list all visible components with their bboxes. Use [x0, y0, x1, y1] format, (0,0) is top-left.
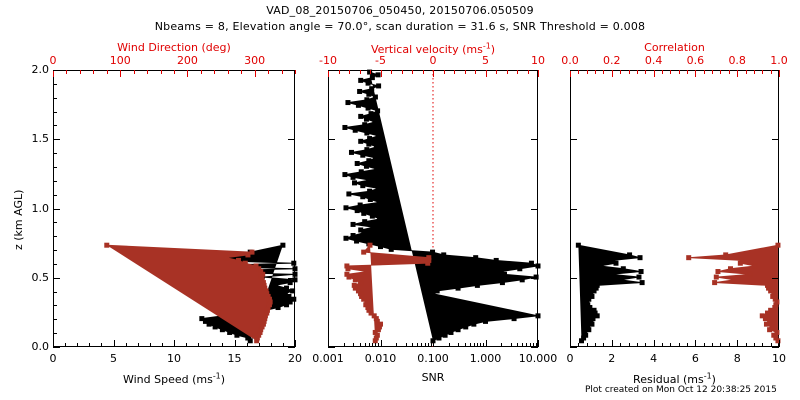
data-point-wind-speed — [293, 272, 297, 276]
data-point-snr — [355, 161, 359, 165]
panel-left-top-axis-title: Wind Direction (deg) — [53, 41, 295, 54]
panel-residual-correlation — [570, 70, 779, 347]
data-point-snr — [375, 167, 379, 171]
top-minor-tick — [687, 70, 688, 74]
data-point-wind-direction — [237, 258, 241, 262]
data-point-wind-direction — [243, 261, 247, 265]
top-minor-tick — [214, 70, 215, 74]
y-major-tick-right — [531, 70, 538, 71]
bottom-tick-label: 10 — [761, 352, 797, 365]
data-point-vertical-velocity — [352, 283, 356, 287]
bottom-minor-tick — [620, 343, 621, 347]
bottom-tick-label: 0 — [35, 352, 71, 365]
y-major-tick — [53, 278, 60, 279]
data-point-snr — [437, 336, 441, 340]
top-minor-tick — [339, 70, 340, 74]
bottom-minor-tick — [662, 343, 663, 347]
top-minor-tick — [637, 70, 638, 74]
y-major-tick-right — [772, 347, 779, 348]
top-minor-tick — [241, 70, 242, 74]
bottom-minor-tick — [101, 343, 102, 347]
bottom-major-tick — [328, 340, 329, 347]
top-major-tick — [187, 70, 188, 77]
top-tick-label: 200 — [167, 54, 207, 67]
data-point-snr — [376, 73, 380, 77]
bottom-minor-tick — [396, 343, 397, 347]
top-tick-label: 0.0 — [550, 54, 590, 67]
data-point-snr — [370, 76, 374, 80]
top-minor-tick — [603, 70, 604, 74]
bottom-minor-tick — [360, 343, 361, 347]
data-point-snr — [368, 198, 372, 202]
y-tick-label: 1.5 — [17, 132, 49, 145]
data-point-snr — [536, 314, 540, 318]
bottom-minor-tick — [77, 343, 78, 347]
bottom-minor-tick — [406, 343, 407, 347]
data-point-wind-direction — [246, 253, 250, 257]
top-major-tick — [120, 70, 121, 77]
top-minor-tick — [391, 70, 392, 74]
y-major-tick — [570, 139, 577, 140]
bottom-minor-tick — [603, 343, 604, 347]
bottom-tick-label: 8 — [719, 352, 755, 365]
data-point-snr — [364, 164, 368, 168]
data-point-correlation — [775, 330, 779, 334]
top-tick-label: 0.2 — [592, 54, 632, 67]
bottom-minor-tick — [162, 343, 163, 347]
data-point-vertical-velocity — [365, 270, 369, 274]
top-minor-tick — [107, 70, 108, 74]
data-point-snr — [351, 222, 355, 226]
top-major-tick — [433, 70, 434, 77]
data-point-residual — [586, 325, 590, 329]
data-point-residual — [637, 275, 641, 279]
bottom-minor-tick — [271, 343, 272, 347]
bottom-minor-tick — [138, 343, 139, 347]
y-major-tick — [328, 347, 335, 348]
data-point-snr — [369, 112, 373, 116]
top-minor-tick — [282, 70, 283, 74]
data-point-snr — [344, 236, 348, 240]
y-major-tick-right — [288, 278, 295, 279]
bottom-major-tick — [381, 340, 382, 347]
top-minor-tick — [370, 70, 371, 74]
data-point-snr — [349, 150, 353, 154]
bottom-major-tick — [295, 340, 296, 347]
y-minor-tick — [53, 98, 57, 99]
bottom-minor-tick — [222, 343, 223, 347]
bottom-minor-tick — [150, 343, 151, 347]
top-minor-tick — [578, 70, 579, 74]
data-point-wind-speed — [200, 317, 204, 321]
panel-right-top-axis-title: Correlation — [570, 41, 779, 54]
y-tick-label: 0.0 — [17, 340, 49, 353]
y-minor-tick — [53, 167, 57, 168]
bottom-tick-label: 0.100 — [405, 352, 461, 365]
bottom-tick-label: 4 — [636, 352, 672, 365]
bottom-minor-tick — [425, 343, 426, 347]
y-major-tick-right — [531, 139, 538, 140]
data-point-wind-direction — [224, 256, 228, 260]
data-point-vertical-velocity — [368, 243, 372, 247]
data-point-wind-speed — [213, 325, 217, 329]
top-minor-tick — [729, 70, 730, 74]
top-minor-tick — [268, 70, 269, 74]
data-point-residual — [628, 253, 632, 257]
vad-plot-figure: VAD_08_20150706_050450, 20150706.050509 … — [0, 0, 800, 400]
y-minor-tick — [53, 250, 57, 251]
bottom-major-tick — [235, 340, 236, 347]
y-major-tick-right — [288, 139, 295, 140]
top-major-tick — [779, 70, 780, 77]
bottom-major-tick — [570, 340, 571, 347]
bottom-major-tick — [612, 340, 613, 347]
bottom-minor-tick — [372, 343, 373, 347]
y-minor-tick — [53, 181, 57, 182]
panel-left-x-axis-label: Wind Speed (ms-1) — [53, 371, 295, 386]
top-major-tick — [695, 70, 696, 77]
y-major-tick-right — [772, 209, 779, 210]
data-point-correlation — [770, 325, 774, 329]
top-tick-label: 0 — [413, 54, 453, 67]
top-minor-tick — [360, 70, 361, 74]
bottom-major-tick — [538, 340, 539, 347]
y-minor-tick — [53, 84, 57, 85]
data-point-snr — [443, 333, 447, 337]
bottom-minor-tick — [517, 343, 518, 347]
data-point-snr — [361, 153, 365, 157]
data-point-snr — [347, 192, 351, 196]
y-tick-label: 1.0 — [17, 202, 49, 215]
data-point-residual — [639, 270, 643, 274]
data-point-snr — [376, 186, 380, 190]
data-point-snr — [378, 217, 382, 221]
bottom-minor-tick — [186, 343, 187, 347]
bottom-tick-label: 15 — [217, 352, 253, 365]
data-point-snr — [351, 175, 355, 179]
top-minor-tick — [475, 70, 476, 74]
y-tick-label: 2.0 — [17, 63, 49, 76]
top-minor-tick — [161, 70, 162, 74]
data-point-wind-direction — [254, 264, 258, 268]
y-minor-tick — [53, 112, 57, 113]
top-tick-label: 0.8 — [717, 54, 757, 67]
data-point-snr — [373, 120, 377, 124]
data-point-vertical-velocity — [345, 272, 349, 276]
bottom-minor-tick — [470, 343, 471, 347]
data-point-snr — [362, 211, 366, 215]
y-major-tick — [328, 139, 335, 140]
bottom-minor-tick — [344, 343, 345, 347]
top-minor-tick — [587, 70, 588, 74]
y-minor-tick — [53, 333, 57, 334]
data-point-wind-speed — [276, 306, 280, 310]
panel-snr-vertical-velocity — [328, 70, 538, 347]
top-minor-tick — [295, 70, 296, 74]
bottom-minor-tick — [578, 343, 579, 347]
data-point-correlation — [776, 243, 780, 247]
top-tick-label: 0.4 — [634, 54, 674, 67]
data-point-snr — [389, 247, 393, 251]
top-minor-tick — [80, 70, 81, 74]
data-point-snr — [365, 98, 369, 102]
data-point-wind-speed — [292, 297, 296, 301]
data-point-wind-direction — [105, 243, 109, 247]
data-point-snr — [365, 131, 369, 135]
data-point-residual — [598, 264, 602, 268]
bottom-minor-tick — [465, 343, 466, 347]
top-minor-tick — [423, 70, 424, 74]
panel-wind-speed-direction — [53, 70, 295, 347]
top-tick-label: 1.0 — [759, 54, 799, 67]
top-minor-tick — [620, 70, 621, 74]
bottom-minor-tick — [412, 343, 413, 347]
data-point-snr — [370, 214, 374, 218]
data-point-correlation — [766, 283, 770, 287]
bottom-major-tick — [654, 340, 655, 347]
data-point-snr — [364, 117, 368, 121]
bottom-minor-tick — [645, 343, 646, 347]
bottom-minor-tick — [477, 343, 478, 347]
bottom-minor-tick — [746, 343, 747, 347]
bottom-minor-tick — [353, 343, 354, 347]
bottom-major-tick — [737, 340, 738, 347]
data-point-snr — [456, 328, 460, 332]
bottom-tick-label: 1.000 — [458, 352, 514, 365]
bottom-minor-tick — [474, 343, 475, 347]
bottom-minor-tick — [687, 343, 688, 347]
panel-left-plot-area — [53, 70, 295, 347]
data-point-snr — [376, 109, 380, 113]
top-major-tick — [538, 70, 539, 77]
data-point-snr — [449, 330, 453, 334]
y-major-tick-right — [288, 347, 295, 348]
y-minor-tick — [53, 264, 57, 265]
y-major-tick — [570, 278, 577, 279]
data-point-snr — [373, 156, 377, 160]
data-point-snr — [499, 270, 503, 274]
y-axis-label: z (km AGL) — [12, 190, 25, 250]
data-point-snr — [356, 103, 360, 107]
top-major-tick — [53, 70, 54, 77]
bottom-minor-tick — [629, 343, 630, 347]
bottom-minor-tick — [431, 343, 432, 347]
bottom-minor-tick — [369, 343, 370, 347]
data-point-residual — [640, 281, 644, 285]
bottom-minor-tick — [526, 343, 527, 347]
panel-right-x-axis-label: Residual (ms-1) — [570, 371, 779, 386]
y-minor-tick — [53, 153, 57, 154]
y-major-tick — [53, 139, 60, 140]
data-point-snr — [344, 206, 348, 210]
top-major-tick — [570, 70, 571, 77]
top-major-tick — [737, 70, 738, 77]
data-point-snr — [435, 289, 439, 293]
plot-credit-text: Plot created on Mon Oct 12 20:38:25 2015 — [585, 385, 777, 395]
top-minor-tick — [174, 70, 175, 74]
top-minor-tick — [134, 70, 135, 74]
bottom-minor-tick — [670, 343, 671, 347]
data-point-snr — [359, 228, 363, 232]
data-point-snr — [355, 209, 359, 213]
top-minor-tick — [712, 70, 713, 74]
data-point-wind-speed — [291, 289, 295, 293]
data-point-residual — [610, 272, 614, 276]
data-point-residual — [611, 258, 615, 262]
data-point-snr — [536, 264, 540, 268]
top-minor-tick — [444, 70, 445, 74]
y-minor-tick — [53, 222, 57, 223]
bottom-tick-label: 6 — [677, 352, 713, 365]
top-minor-tick — [670, 70, 671, 74]
bottom-minor-tick — [458, 343, 459, 347]
bottom-tick-label: 0 — [552, 352, 588, 365]
top-major-tick — [486, 70, 487, 77]
data-point-snr — [512, 317, 516, 321]
data-point-snr — [431, 292, 435, 296]
data-point-wind-speed — [285, 286, 289, 290]
bottom-minor-tick — [754, 343, 755, 347]
series-line-snr — [345, 72, 538, 341]
bottom-tick-label: 5 — [96, 352, 132, 365]
y-minor-tick — [53, 305, 57, 306]
data-point-snr — [474, 256, 478, 260]
bottom-minor-tick — [283, 343, 284, 347]
bottom-major-tick — [53, 340, 54, 347]
data-point-snr — [359, 78, 363, 82]
bottom-minor-tick — [198, 343, 199, 347]
bottom-tick-label: 0.001 — [300, 352, 356, 365]
data-point-wind-speed — [274, 283, 278, 287]
bottom-minor-tick — [259, 343, 260, 347]
top-minor-tick — [720, 70, 721, 74]
top-major-tick — [255, 70, 256, 77]
data-point-snr — [363, 123, 367, 127]
top-minor-tick — [454, 70, 455, 74]
y-minor-tick — [53, 195, 57, 196]
data-point-snr — [518, 267, 522, 271]
panel-mid-plot-area — [328, 70, 538, 347]
bottom-minor-tick — [375, 343, 376, 347]
bottom-minor-tick — [421, 343, 422, 347]
data-point-snr — [456, 286, 460, 290]
data-point-snr — [366, 81, 370, 85]
data-point-snr — [353, 181, 357, 185]
data-point-snr — [367, 142, 371, 146]
data-point-snr — [365, 148, 369, 152]
data-point-wind-speed — [235, 333, 239, 337]
y-major-tick — [328, 209, 335, 210]
bottom-minor-tick — [247, 343, 248, 347]
bottom-minor-tick — [483, 343, 484, 347]
top-minor-tick — [228, 70, 229, 74]
data-point-correlation — [748, 272, 752, 276]
bottom-minor-tick — [511, 343, 512, 347]
top-major-tick — [328, 70, 329, 77]
data-point-snr — [373, 95, 377, 99]
top-major-tick — [381, 70, 382, 77]
bottom-minor-tick — [378, 343, 379, 347]
top-minor-tick — [465, 70, 466, 74]
data-point-snr — [366, 106, 370, 110]
top-minor-tick — [349, 70, 350, 74]
top-minor-tick — [629, 70, 630, 74]
bottom-tick-label: 2 — [594, 352, 630, 365]
data-point-snr — [359, 139, 363, 143]
bottom-minor-tick — [501, 343, 502, 347]
data-point-vertical-velocity — [362, 250, 366, 254]
data-point-wind-speed — [283, 292, 287, 296]
top-minor-tick — [762, 70, 763, 74]
data-point-correlation — [714, 275, 718, 279]
data-point-snr — [376, 134, 380, 138]
data-point-wind-speed — [228, 330, 232, 334]
data-point-correlation — [768, 319, 772, 323]
bottom-minor-tick — [126, 343, 127, 347]
bottom-minor-tick — [595, 343, 596, 347]
y-minor-tick — [53, 125, 57, 126]
top-tick-label: 0.6 — [675, 54, 715, 67]
data-point-snr — [377, 84, 381, 88]
data-point-snr — [475, 283, 479, 287]
figure-title-line-2: Nbeams = 8, Elevation angle = 70.0°, sca… — [0, 20, 800, 33]
bottom-minor-tick — [762, 343, 763, 347]
bottom-minor-tick — [720, 343, 721, 347]
y-major-tick-right — [531, 278, 538, 279]
top-minor-tick — [645, 70, 646, 74]
data-point-residual — [576, 243, 580, 247]
data-point-correlation — [740, 258, 744, 262]
top-tick-label: -10 — [308, 54, 348, 67]
bottom-minor-tick — [417, 343, 418, 347]
top-minor-tick — [528, 70, 529, 74]
top-minor-tick — [704, 70, 705, 74]
bottom-minor-tick — [679, 343, 680, 347]
data-point-correlation — [687, 256, 691, 260]
top-tick-label: 5 — [466, 54, 506, 67]
data-point-correlation — [760, 314, 764, 318]
bottom-minor-tick — [704, 343, 705, 347]
panel-right-plot-area — [570, 70, 779, 347]
data-point-snr — [371, 225, 375, 229]
bottom-tick-label: 0.010 — [353, 352, 409, 365]
data-point-residual — [591, 317, 595, 321]
bottom-minor-tick — [522, 343, 523, 347]
y-major-tick — [53, 70, 60, 71]
y-major-tick-right — [772, 278, 779, 279]
y-minor-tick — [53, 292, 57, 293]
bottom-minor-tick — [637, 343, 638, 347]
top-minor-tick — [402, 70, 403, 74]
bottom-minor-tick — [428, 343, 429, 347]
data-point-snr — [464, 325, 468, 329]
data-point-wind-speed — [288, 281, 292, 285]
y-minor-tick — [53, 319, 57, 320]
bottom-minor-tick — [65, 343, 66, 347]
data-point-snr — [431, 250, 435, 254]
data-point-wind-speed — [220, 328, 224, 332]
y-major-tick-right — [531, 347, 538, 348]
data-point-snr — [368, 189, 372, 193]
data-point-wind-speed — [246, 336, 250, 340]
top-minor-tick — [66, 70, 67, 74]
data-point-vertical-velocity — [353, 278, 357, 282]
data-point-residual — [621, 267, 625, 271]
top-minor-tick — [595, 70, 596, 74]
data-point-wind-speed — [292, 261, 296, 265]
y-major-tick-right — [288, 209, 295, 210]
top-minor-tick — [496, 70, 497, 74]
